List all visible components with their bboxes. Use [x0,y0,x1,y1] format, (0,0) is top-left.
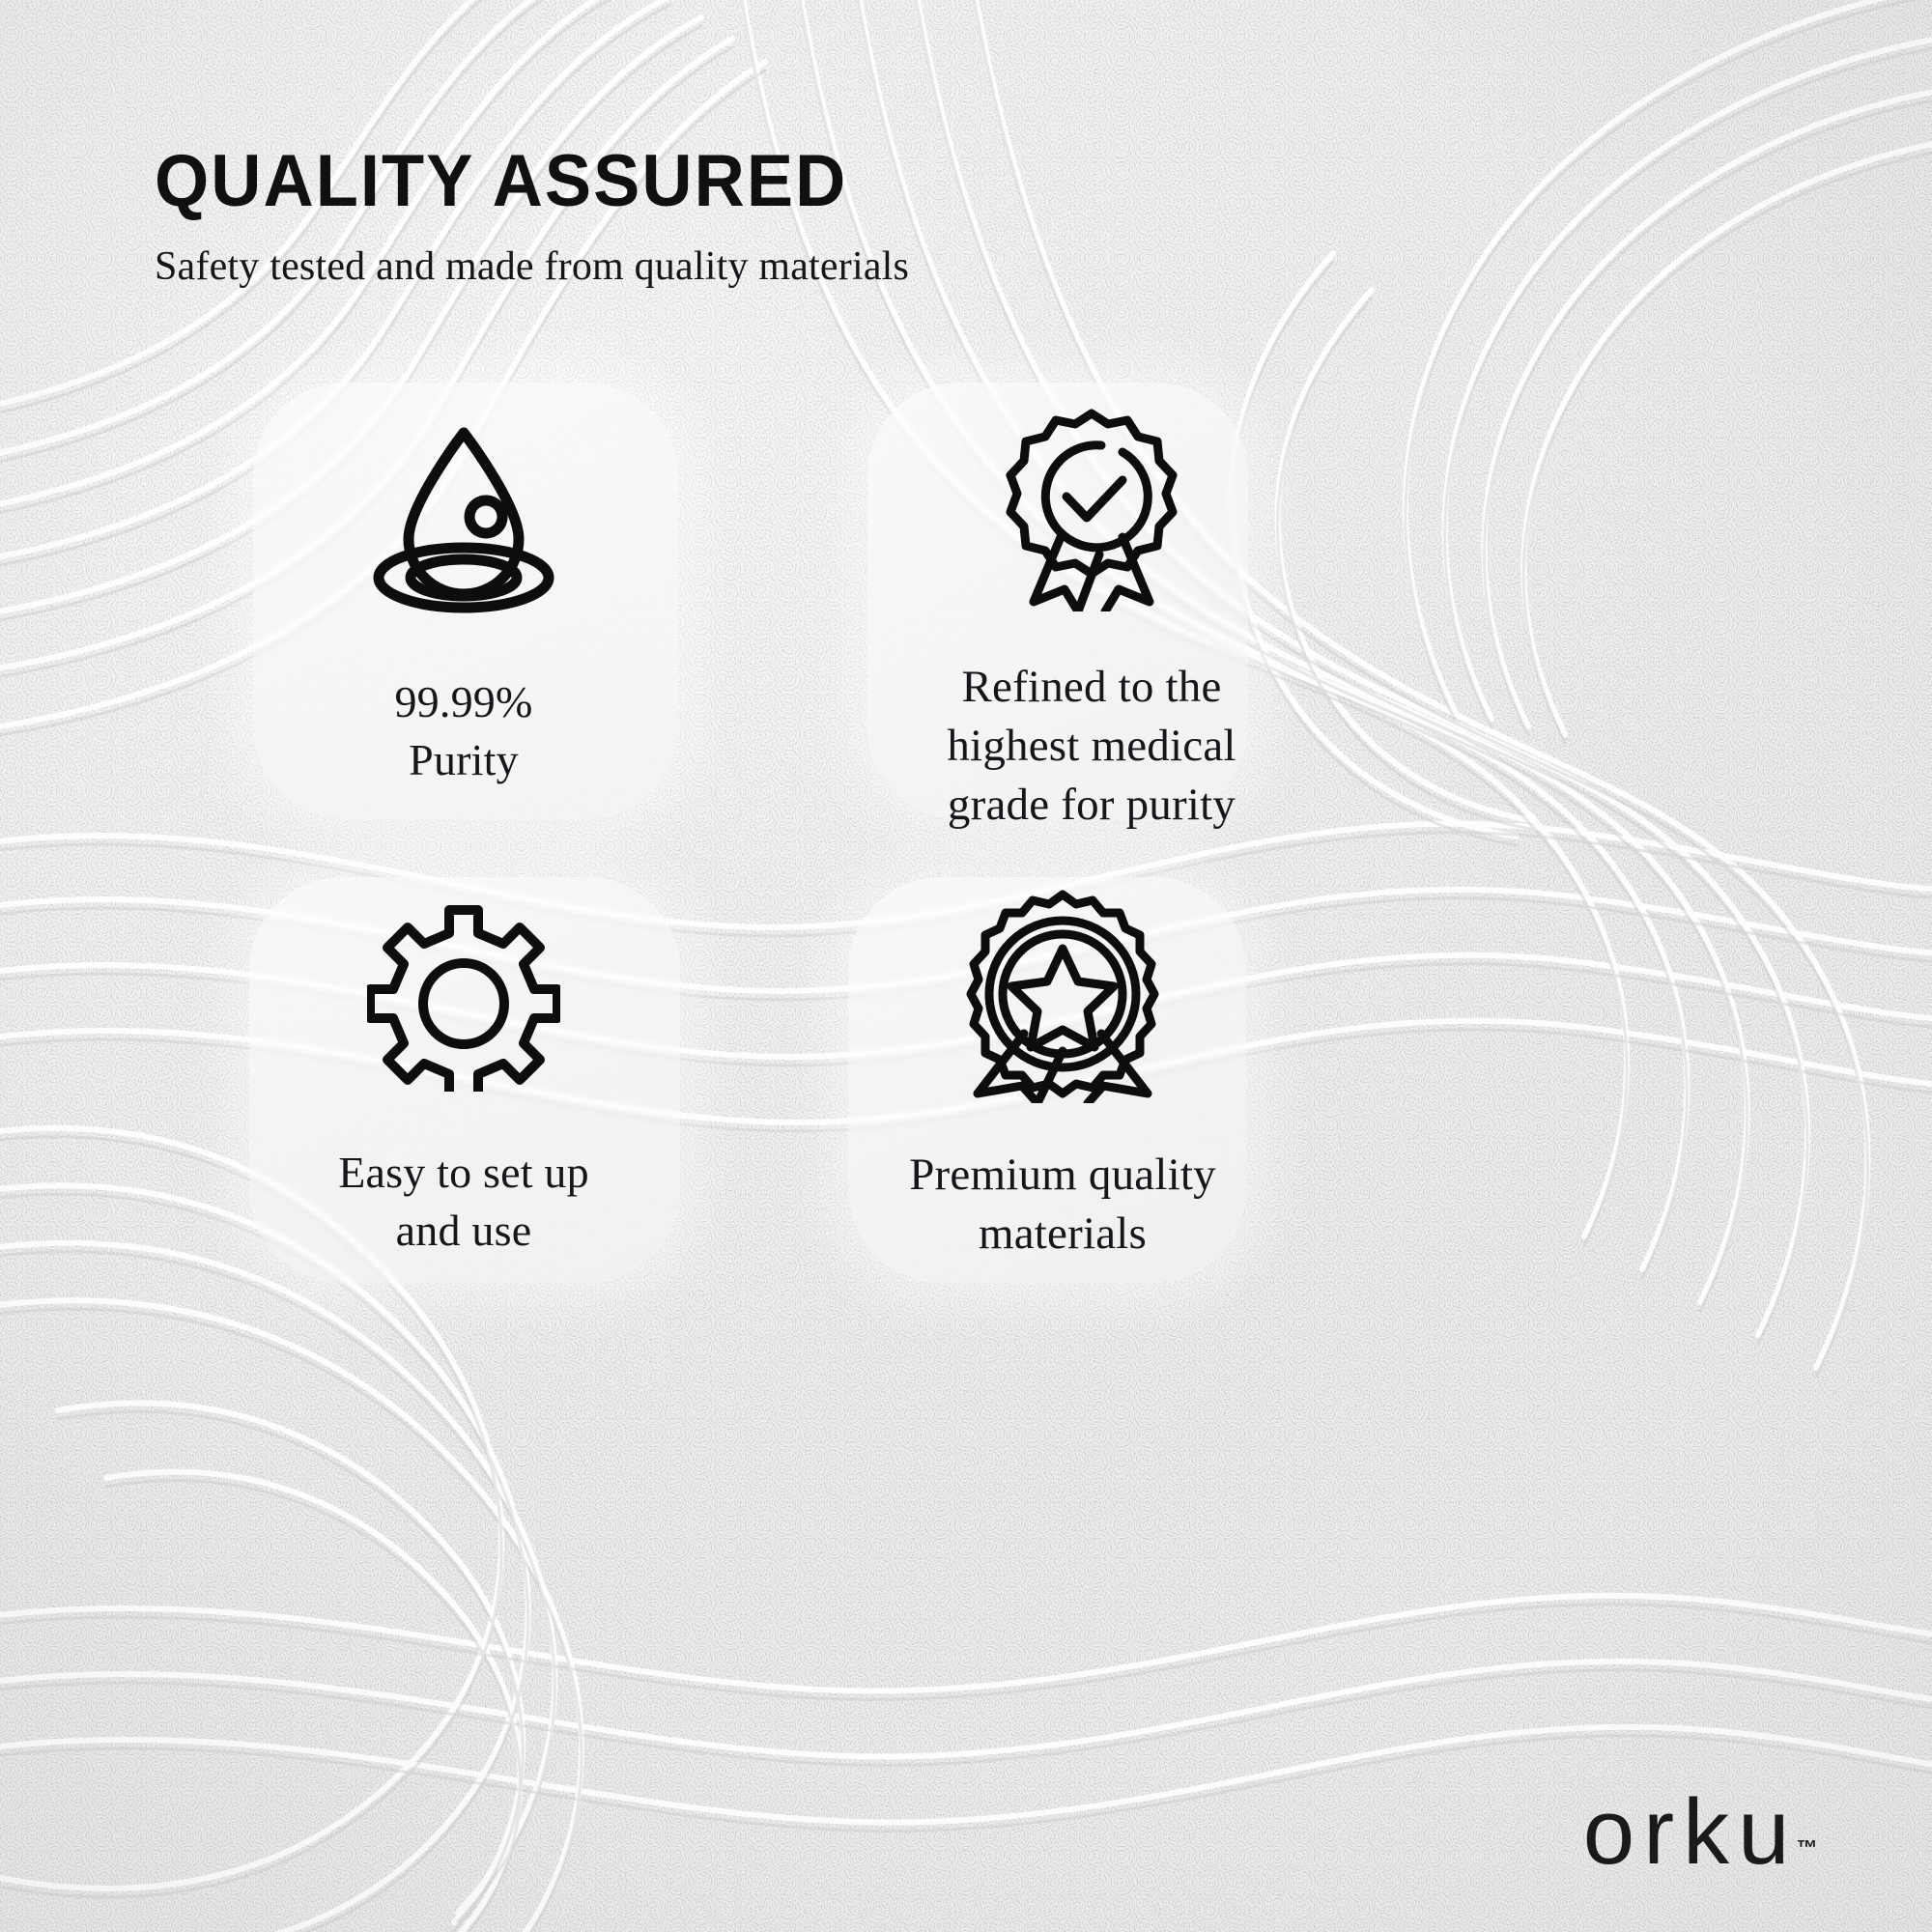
feature-caption: 99.99% Purity [394,673,532,789]
feature-item-medical-grade: Refined to the highest medical grade for… [898,404,1285,835]
feature-item-easy-setup: Easy to set up and use [290,898,638,1260]
star-award-ribbon-icon [956,889,1169,1103]
feature-caption: Easy to set up and use [338,1144,589,1260]
feature-caption-line1: Easy to set up [338,1144,589,1202]
feature-caption-line2: highest medical [947,717,1236,776]
water-droplet-ripple-icon [362,415,565,623]
feature-caption-line2: Purity [394,731,532,789]
brand-name: orku [1583,1788,1799,1876]
trademark-symbol: ™ [1797,1835,1819,1861]
feature-caption-line1: 99.99% [394,673,532,731]
check-badge-ribbon-icon [995,404,1188,611]
feature-caption: Premium quality materials [909,1146,1216,1264]
feature-caption-line2: and use [338,1202,589,1260]
feature-caption: Refined to the highest medical grade for… [947,658,1236,835]
brand-logo: orku ™ [1583,1788,1818,1876]
feature-item-purity: 99.99% Purity [290,415,638,789]
feature-item-premium-materials: Premium quality materials [869,889,1256,1264]
feature-caption-line1: Refined to the [947,658,1236,717]
feature-caption-line3: grade for purity [947,776,1236,835]
infographic-canvas: QUALITY ASSURED Safety tested and made f… [0,0,1932,1932]
feature-caption-line1: Premium quality [909,1146,1216,1205]
feature-caption-line2: materials [909,1205,1216,1264]
gear-cog-icon [367,898,560,1092]
